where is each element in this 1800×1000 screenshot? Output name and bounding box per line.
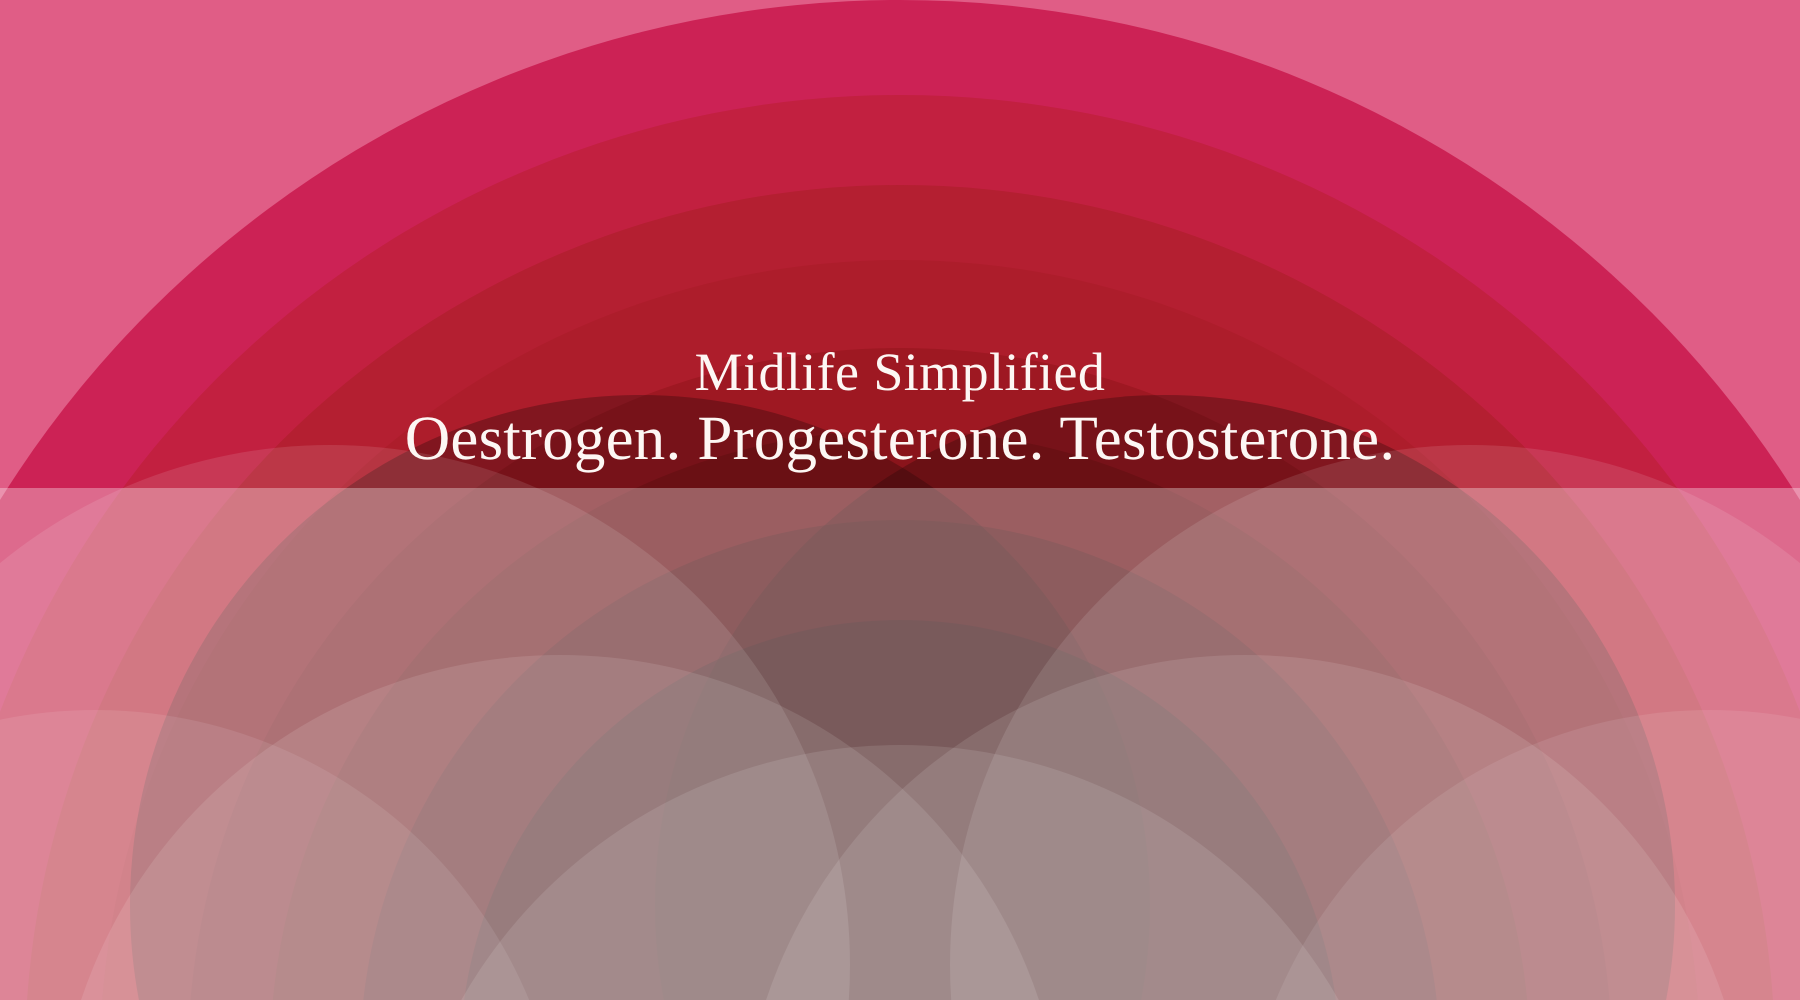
lower-light-wash [0, 488, 1800, 1000]
hero-banner: Midlife Simplified Oestrogen. Progestero… [0, 0, 1800, 1000]
decorative-arc-artwork [0, 0, 1800, 1000]
